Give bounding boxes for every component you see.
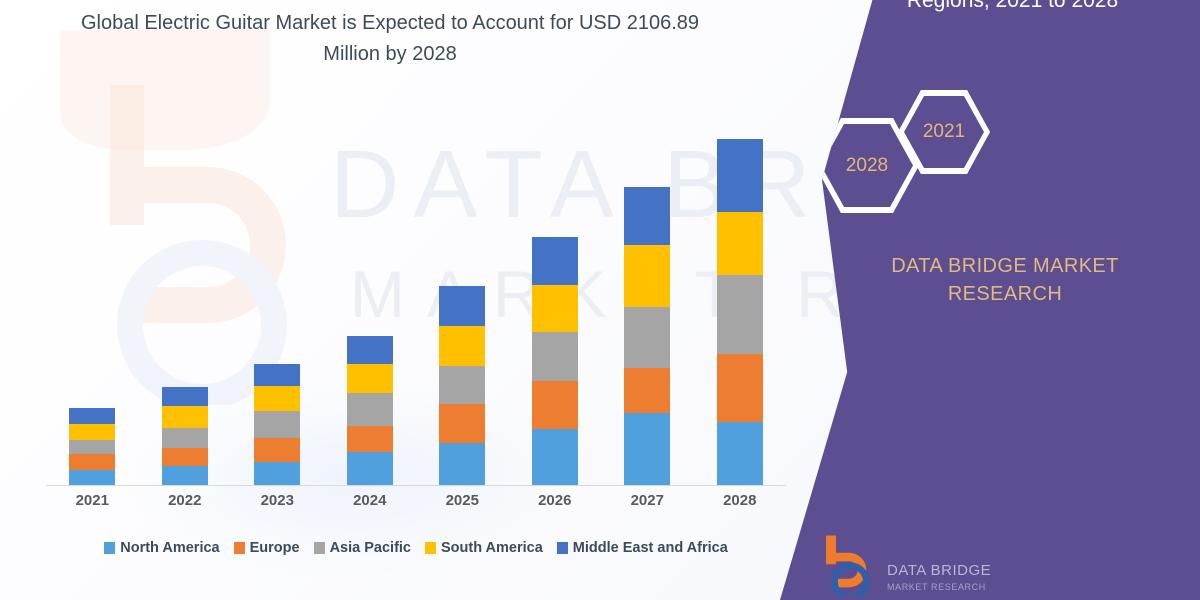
bar-segment (439, 326, 485, 365)
legend-item[interactable]: Europe (234, 540, 300, 556)
hexagon-2021-label: 2021 (923, 121, 965, 143)
hexagon-2028-label: 2028 (846, 155, 888, 177)
legend-item[interactable]: South America (425, 540, 543, 556)
bar-slot (324, 100, 417, 485)
plot-area (46, 100, 786, 486)
legend-swatch-icon (314, 542, 325, 554)
x-tick-2021: 2021 (46, 492, 139, 509)
bar-segment (254, 411, 300, 438)
stacked-bar-2028 (717, 139, 763, 485)
bar-segment (347, 364, 393, 394)
bar-segment (624, 413, 670, 485)
bar-segment (254, 438, 300, 463)
bar-segment (717, 212, 763, 275)
stacked-bar-2021 (69, 408, 115, 485)
x-tick-2028: 2028 (694, 492, 787, 509)
stacked-bar-2026 (532, 237, 578, 485)
legend-swatch-icon (104, 542, 115, 554)
bar-segment (717, 275, 763, 354)
bar-segment (717, 139, 763, 212)
bar-segment (347, 336, 393, 364)
legend-label: Asia Pacific (330, 540, 411, 556)
bar-segment (347, 452, 393, 485)
bar-segment (439, 366, 485, 405)
bar-segment (624, 187, 670, 245)
x-tick-2024: 2024 (324, 492, 417, 509)
x-tick-2027: 2027 (601, 492, 694, 509)
chart-panel: DATA BRIDGE MARKET RESEARCH Global Elect… (0, 0, 900, 600)
bar-segment (347, 393, 393, 426)
legend-swatch-icon (425, 542, 436, 554)
legend-swatch-icon (234, 542, 245, 554)
x-axis-line (46, 485, 786, 486)
hexagon-group: 2028 2021 (780, 90, 1200, 220)
legend-swatch-icon (557, 542, 568, 554)
legend-label: South America (441, 540, 543, 556)
footer-logo-icon (820, 534, 878, 596)
stacked-bar-2023 (254, 364, 300, 485)
bar-segment (439, 286, 485, 326)
stacked-bar-2022 (162, 387, 208, 485)
bar-slot (601, 100, 694, 485)
bar-segment (69, 470, 115, 485)
stacked-bar-2027 (624, 187, 670, 485)
bar-slot (416, 100, 509, 485)
x-tick-2025: 2025 (416, 492, 509, 509)
brand-line-1: DATA BRIDGE MARKET (810, 252, 1200, 280)
bar-segment (532, 332, 578, 381)
bar-slot (694, 100, 787, 485)
legend-item[interactable]: Middle East and Africa (557, 540, 728, 556)
bar-segment (624, 245, 670, 307)
x-tick-2022: 2022 (139, 492, 232, 509)
legend-item[interactable]: North America (104, 540, 219, 556)
bar-segment (439, 443, 485, 485)
brand-name: DATA BRIDGE MARKET RESEARCH (780, 252, 1200, 308)
bar-slot (139, 100, 232, 485)
bar-segment (532, 285, 578, 332)
bar-segment (532, 237, 578, 284)
chart-legend: North AmericaEuropeAsia PacificSouth Ame… (46, 540, 786, 556)
bar-segment (532, 429, 578, 485)
x-tick-2026: 2026 (509, 492, 602, 509)
footer-logo-text: DATA BRIDGE MARKET RESEARCH (887, 562, 991, 596)
legend-label: Middle East and Africa (573, 540, 728, 556)
bar-slot (46, 100, 139, 485)
chart-screenshot: DATA BRIDGE MARKET RESEARCH Global Elect… (0, 0, 1200, 600)
stacked-bar-2025 (439, 286, 485, 485)
bar-segment (439, 404, 485, 443)
bar-slot (509, 100, 602, 485)
bar-segment (624, 307, 670, 367)
bar-segment (69, 454, 115, 470)
legend-label: North America (120, 540, 219, 556)
chart-title: Global Electric Guitar Market is Expecte… (60, 8, 720, 70)
legend-item[interactable]: Asia Pacific (314, 540, 411, 556)
bar-segment (254, 386, 300, 411)
bar-segment (532, 381, 578, 428)
bar-segment (624, 368, 670, 413)
footer-logo: DATA BRIDGE MARKET RESEARCH (820, 534, 991, 596)
bar-segment (162, 387, 208, 406)
bar-segment (162, 466, 208, 485)
bar-segment (162, 448, 208, 467)
stacked-bar-2024 (347, 336, 393, 485)
brand-line-2: RESEARCH (810, 280, 1200, 308)
bar-segment (162, 428, 208, 448)
bar-segment (69, 440, 115, 455)
bar-segment (69, 408, 115, 424)
bar-group (46, 100, 786, 485)
x-axis-labels: 20212022202320242025202620272028 (46, 492, 786, 509)
bar-segment (717, 354, 763, 422)
bar-segment (717, 422, 763, 485)
bar-segment (254, 462, 300, 485)
footer-brand-name: DATA BRIDGE (887, 562, 991, 579)
bar-segment (254, 364, 300, 387)
bar-segment (69, 424, 115, 440)
bar-segment (162, 406, 208, 428)
legend-label: Europe (250, 540, 300, 556)
footer-brand-sub: MARKET RESEARCH (887, 579, 991, 596)
bar-slot (231, 100, 324, 485)
x-tick-2023: 2023 (231, 492, 324, 509)
bar-segment (347, 426, 393, 453)
